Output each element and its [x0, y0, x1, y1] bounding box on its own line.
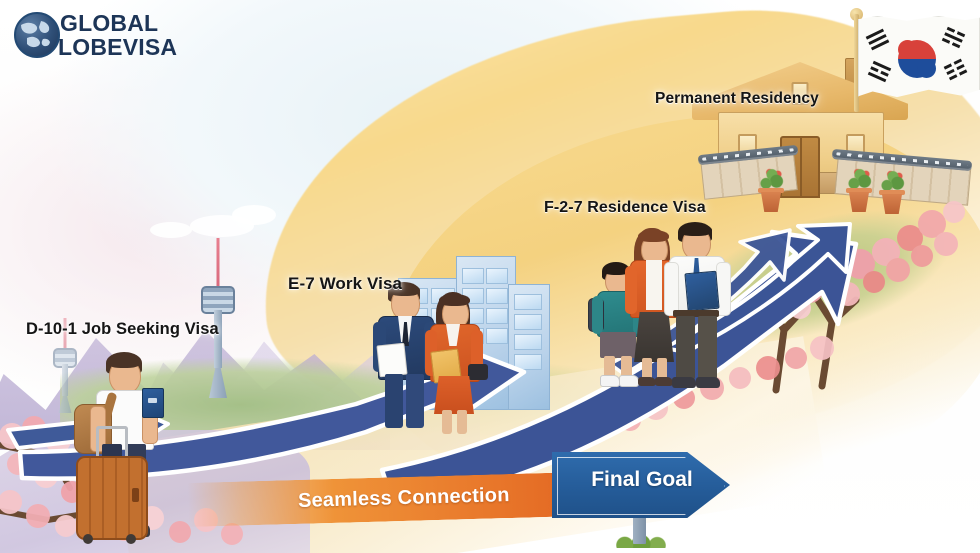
skirt — [434, 376, 474, 414]
folder-icon — [684, 271, 719, 312]
passport-icon — [142, 388, 164, 418]
hair-fringe — [107, 355, 141, 368]
final-goal-label: Final Goal — [582, 468, 702, 492]
leg-right — [698, 316, 717, 380]
suitcase-wheel — [126, 534, 136, 544]
handbag-icon — [468, 364, 488, 380]
suitcase-wheel — [83, 534, 93, 544]
hair-fringe — [439, 294, 470, 306]
figure-family-father — [664, 222, 732, 390]
shoe-left — [638, 377, 656, 386]
document-icon — [376, 343, 407, 378]
inner-top — [646, 260, 662, 310]
step-label-f27: F-2-7 Residence Visa — [544, 199, 706, 217]
leg-left — [442, 410, 452, 434]
arm-left — [664, 262, 679, 316]
leg-left — [385, 374, 403, 428]
arm-left — [625, 266, 637, 314]
figure-worker-female — [424, 292, 488, 436]
hair-fringe — [679, 224, 712, 236]
step-label-e7: E-7 Work Visa — [288, 274, 402, 294]
infographic-canvas: D-10-1 Job Seeking Visa E-7 Work Visa F-… — [0, 0, 980, 553]
logo-line-2: LOBEVISA — [58, 34, 177, 61]
suitcase-latch — [132, 488, 139, 502]
shoe-left — [600, 375, 620, 387]
brand-logo[interactable]: GLOBAL LOBEVISA — [14, 8, 214, 64]
logo-line-1: GLOBAL — [60, 10, 158, 37]
globe-icon — [14, 12, 60, 58]
shoe-right — [696, 377, 720, 388]
leg-left — [676, 316, 695, 380]
arm-left — [592, 296, 603, 334]
passport-emblem — [148, 398, 157, 403]
shoe-left — [672, 377, 696, 388]
leg-right — [457, 410, 467, 434]
leg-right — [406, 374, 424, 428]
step-label-permanent-residency: Permanent Residency — [655, 90, 819, 108]
figure-job-seeker — [68, 352, 188, 550]
step-label-d10: D-10-1 Job Seeking Visa — [26, 320, 219, 339]
